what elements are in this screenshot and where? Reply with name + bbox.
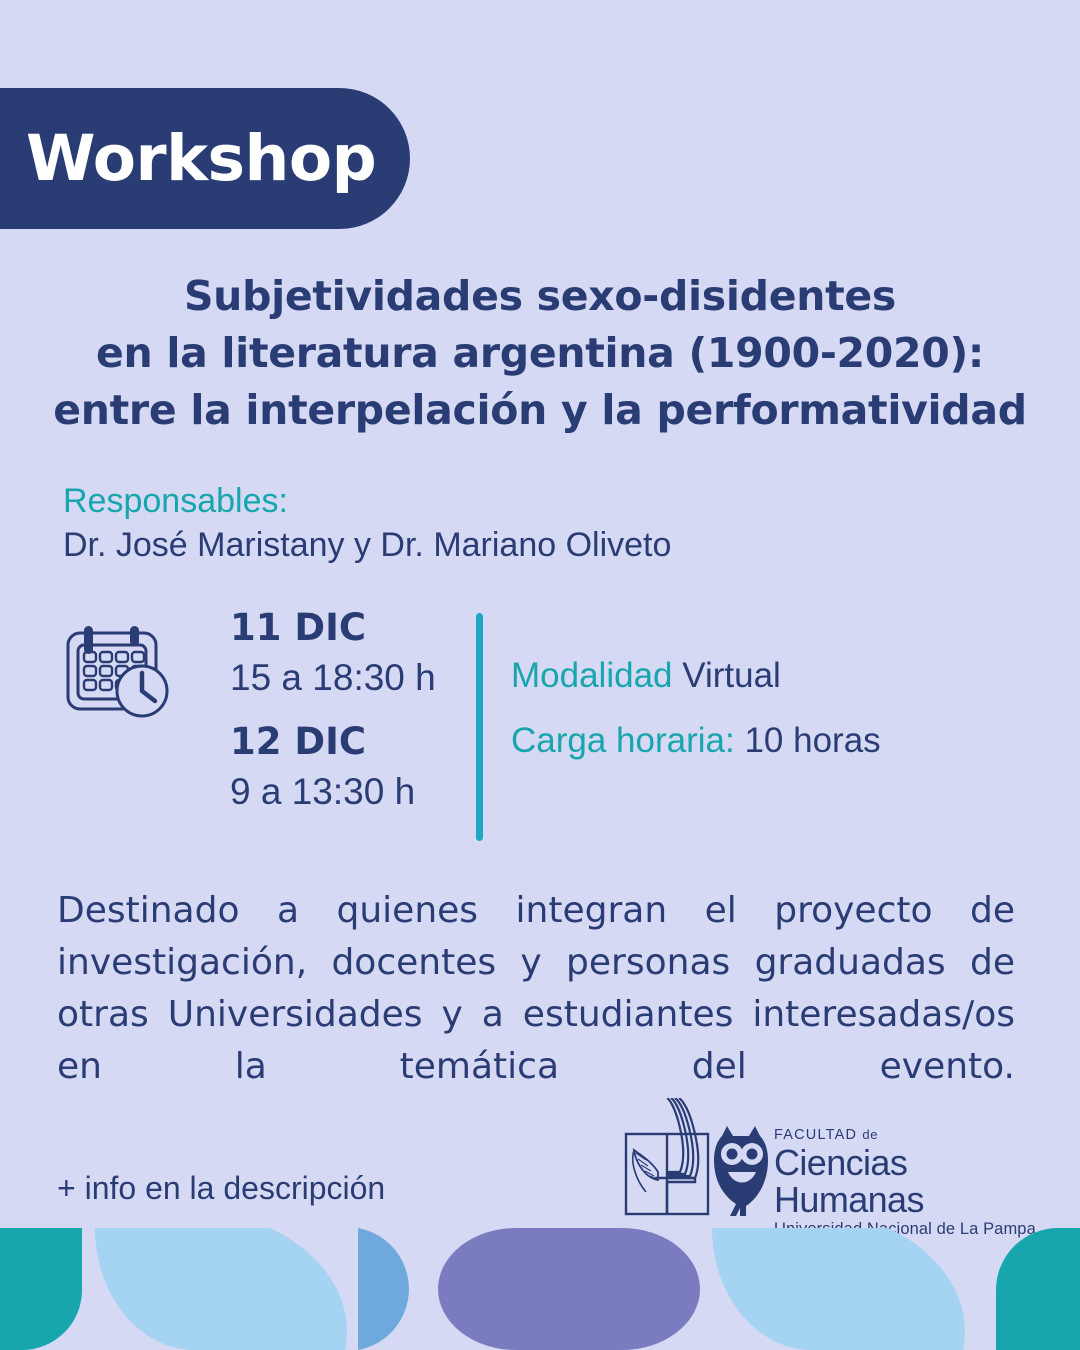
responsables-block: Responsables: Dr. José Maristany y Dr. M… xyxy=(63,480,671,568)
dates-column: 11 DIC 15 a 18:30 h 12 DIC 9 a 13:30 h xyxy=(230,605,510,819)
calendar-clock-icon xyxy=(60,621,180,721)
date-time: 9 a 13:30 h xyxy=(230,765,510,819)
modality-value: Virtual xyxy=(682,656,781,695)
title-line-1: Subjetividades sexo-disidentes xyxy=(0,268,1080,325)
logo-de-word: de xyxy=(862,1127,878,1142)
vertical-divider xyxy=(476,613,483,841)
schedule-section: 11 DIC 15 a 18:30 h 12 DIC 9 a 13:30 h M… xyxy=(55,605,1035,850)
faculty-logo: FACULTAD de Ciencias Humanas Universidad… xyxy=(622,1098,1042,1218)
poster-canvas: Workshop Subjetividades sexo-disidentes … xyxy=(0,0,1080,1350)
purple-pill-shape xyxy=(438,1228,700,1350)
medium-blue-half-circle-shape xyxy=(358,1228,409,1350)
workshop-badge: Workshop xyxy=(0,88,410,229)
date-entry: 12 DIC 9 a 13:30 h xyxy=(230,719,510,819)
date-entry: 11 DIC 15 a 18:30 h xyxy=(230,605,510,705)
modality-row: Modalidad Virtual xyxy=(511,643,1031,708)
book-quill-owl-emblem xyxy=(622,1098,772,1218)
title-line-3: entre la interpelación y la performativi… xyxy=(0,382,1080,439)
teal-quarter-left-shape xyxy=(0,1228,82,1350)
more-info-note: + info en la descripción xyxy=(57,1168,385,1208)
responsables-label: Responsables: xyxy=(63,480,671,522)
date-day: 11 DIC xyxy=(230,605,510,651)
title-line-2: en la literatura argentina (1900-2020): xyxy=(0,325,1080,382)
workload-row: Carga horaria: 10 horas xyxy=(511,708,1031,773)
workshop-badge-label: Workshop xyxy=(26,122,376,195)
modality-label: Modalidad xyxy=(511,656,673,695)
page-title: Subjetividades sexo-disidentes en la lit… xyxy=(0,268,1080,439)
date-day: 12 DIC xyxy=(230,719,510,765)
logo-faculty-word: FACULTAD xyxy=(774,1127,857,1143)
bottom-decoration xyxy=(0,1228,1080,1350)
logo-name-line: Ciencias Humanas xyxy=(774,1144,1042,1218)
workload-value: 10 horas xyxy=(744,721,880,760)
logo-text-block: FACULTAD de Ciencias Humanas Universidad… xyxy=(774,1126,1042,1239)
workload-label: Carga horaria: xyxy=(511,721,735,760)
light-blue-leaf-1-shape xyxy=(95,1228,347,1350)
date-time: 15 a 18:30 h xyxy=(230,651,510,705)
teal-quarter-right-shape xyxy=(996,1228,1080,1350)
light-blue-leaf-2-shape xyxy=(712,1228,965,1350)
modality-column: Modalidad Virtual Carga horaria: 10 hora… xyxy=(511,643,1031,773)
responsables-names: Dr. José Maristany y Dr. Mariano Oliveto xyxy=(63,522,671,568)
